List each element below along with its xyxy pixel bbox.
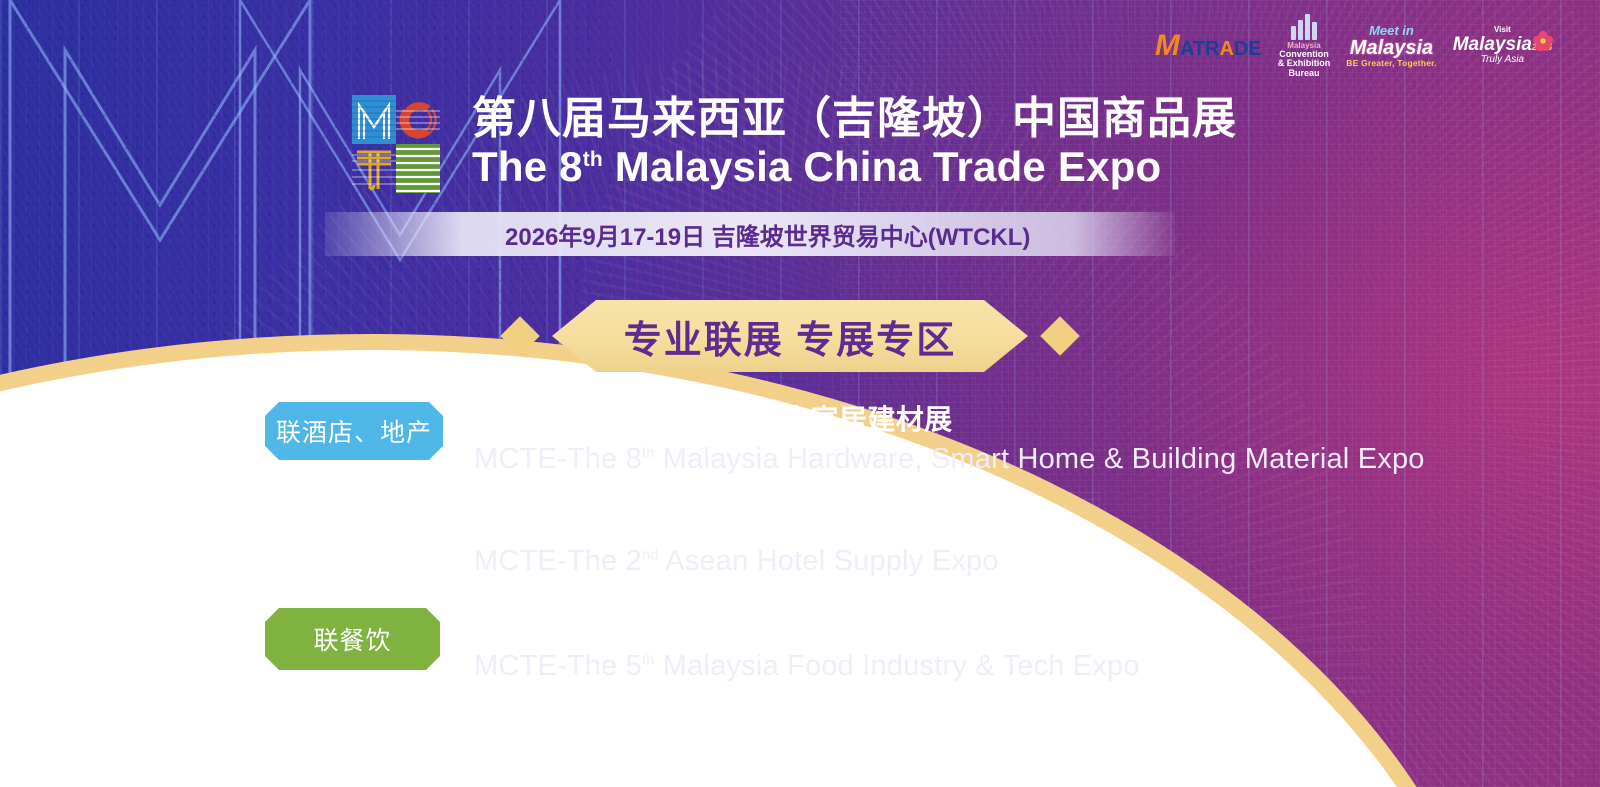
matrade-logo[interactable]: M ATRADE	[1155, 31, 1262, 61]
page-title-cn: 第八届马来西亚（吉隆坡）中国商品展	[472, 96, 1252, 142]
meet-in-malaysia-logo[interactable]: Meet in Malaysia BE Greater, Together.	[1346, 24, 1437, 68]
expo-title-cn: 第五届MCTE马来西亚食品餐饮展	[474, 605, 1140, 645]
mcte-letter-t	[352, 144, 396, 193]
meet-in-malaysia-tagline: BE Greater, Together.	[1346, 59, 1437, 68]
date-venue-text: 2026年9月17-19日 吉隆坡世界贸易中心(WTCKL)	[505, 217, 1030, 252]
expo-row-food-industry[interactable]: 第五届MCTE马来西亚食品餐饮展 MCTE-The 5th Malaysia F…	[474, 605, 1140, 683]
visit-malaysia-tagline: Truly Asia	[1481, 55, 1524, 66]
mceb-logo[interactable]: Malaysia Convention & Exhibition Bureau	[1278, 14, 1331, 78]
expo-title-en: MCTE-The 5th Malaysia Food Industry & Te…	[474, 650, 1140, 683]
banner-stage: M ATRADE Malaysia Convention & Exhibitio…	[0, 0, 1600, 787]
matrade-mark: M	[1155, 31, 1178, 61]
tag-catering[interactable]: 联餐饮	[265, 608, 440, 670]
expo-row-hotel-supply[interactable]: 第二届MCTE东盟酒店用品展 MCTE-The 2nd Asean Hotel …	[474, 500, 999, 578]
expo-title-en: MCTE-The 8th Malaysia Hardware, Smart Ho…	[474, 443, 1425, 476]
expo-ordinal-suffix: th	[642, 652, 655, 668]
partner-logos: M ATRADE Malaysia Convention & Exhibitio…	[1155, 14, 1552, 78]
mcte-letter-c	[396, 95, 440, 144]
page-title-en: The 8th Malaysia China Trade Expo	[472, 145, 1292, 189]
visit-malaysia-logo[interactable]: Visit Malaysia2026 Truly Asia	[1453, 26, 1552, 65]
gold-banner-plate: 专业联展 专展专区	[552, 300, 1028, 372]
tag-hotel-property-label: 联酒店、地产	[276, 413, 432, 449]
tag-hotel-property[interactable]: 联酒店、地产	[265, 402, 443, 460]
hibiscus-flower-icon	[1532, 30, 1554, 52]
mcte-logo[interactable]	[352, 95, 440, 193]
tag-catering-label: 联餐饮	[313, 621, 391, 657]
mceb-tower-icon	[1291, 14, 1317, 40]
mcte-letter-m	[352, 95, 396, 144]
gold-diamond-left-icon	[500, 316, 540, 356]
gold-diamond-right-icon	[1040, 316, 1080, 356]
mceb-line4: Bureau	[1288, 69, 1319, 78]
matrade-wordmark: ATRADE	[1180, 39, 1262, 59]
meet-in-malaysia-line1: Meet in	[1369, 24, 1414, 38]
expo-row-hardware[interactable]: 第八届MCTE马来西亚五金家居建材展 MCTE-The 8th Malaysia…	[474, 398, 1425, 476]
title-ordinal-suffix: th	[583, 148, 603, 171]
expo-title-cn: 第二届MCTE东盟酒店用品展	[474, 500, 999, 540]
gold-section-banner: 专业联展 专展专区	[500, 300, 1080, 372]
date-venue-bar: 2026年9月17-19日 吉隆坡世界贸易中心(WTCKL)	[325, 212, 1175, 256]
expo-ordinal-suffix: nd	[642, 547, 659, 563]
meet-in-malaysia-line2: Malaysia	[1350, 38, 1433, 59]
expo-title-en: MCTE-The 2nd Asean Hotel Supply Expo	[474, 545, 999, 578]
mcte-letter-e	[396, 144, 440, 193]
gold-banner-label: 专业联展 专展专区	[624, 309, 957, 364]
expo-ordinal-suffix: th	[642, 445, 655, 461]
expo-title-cn: 第八届MCTE马来西亚五金家居建材展	[474, 398, 1425, 438]
